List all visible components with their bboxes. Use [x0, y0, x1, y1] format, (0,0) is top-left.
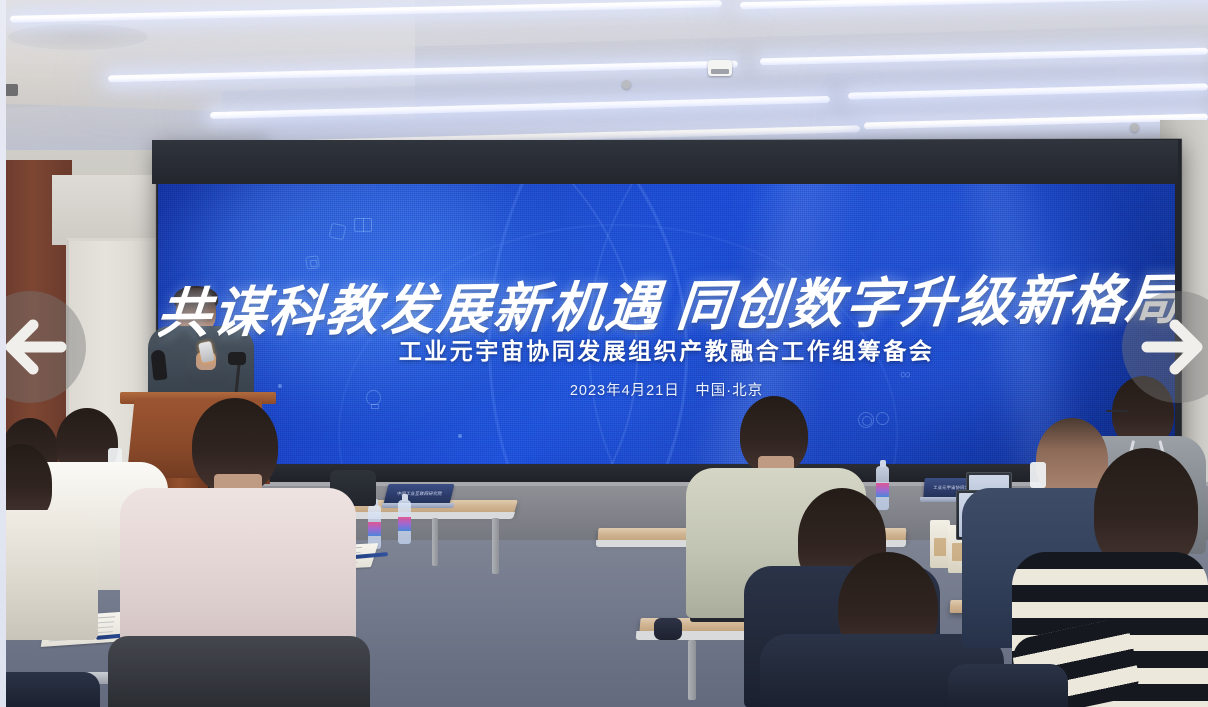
sprinkler-icon — [622, 80, 631, 89]
water-bottle — [398, 500, 411, 544]
ceiling-projector-icon — [708, 60, 732, 76]
viewer-left-border — [0, 0, 6, 707]
sprinkler-icon — [1130, 123, 1139, 132]
beverage-carton — [930, 520, 950, 568]
event-dateline: 2023年4月21日 中国·北京 — [158, 379, 1175, 400]
ceiling-light-tube — [760, 48, 1208, 66]
ceiling-recess — [8, 24, 148, 50]
led-screen-top-bezel — [152, 140, 1178, 184]
led-screen: ∞ 共谋科教发展新机遇 同创数字升级新格局 工业元宇宙协同发展组织产教融合工作组… — [158, 184, 1175, 466]
microphone-icon — [654, 618, 682, 640]
event-subheadline: 工业元宇宙协同发展组织产教融合工作组筹备会 — [158, 332, 1175, 366]
photo-viewer-canvas: ∞ 共谋科教发展新机遇 同创数字升级新格局 工业元宇宙协同发展组织产教融合工作组… — [0, 0, 1208, 707]
name-card-base — [381, 503, 454, 508]
arrow-left-icon — [0, 318, 67, 376]
name-card: 中国工业互联网研究院 — [384, 484, 455, 504]
screen-dot — [458, 434, 462, 438]
book-outline-icon — [354, 218, 372, 232]
desk-leg — [688, 640, 696, 700]
arrow-right-icon — [1141, 318, 1208, 376]
gear-outline-icon — [858, 412, 874, 428]
wall-niche — [52, 175, 170, 245]
water-bottle — [876, 466, 889, 510]
smoke-detector-icon — [4, 84, 18, 96]
square-outline-icon — [329, 223, 347, 241]
gear-outline-icon — [876, 412, 889, 425]
desk-leg — [432, 518, 438, 566]
desk-leg — [492, 518, 499, 574]
